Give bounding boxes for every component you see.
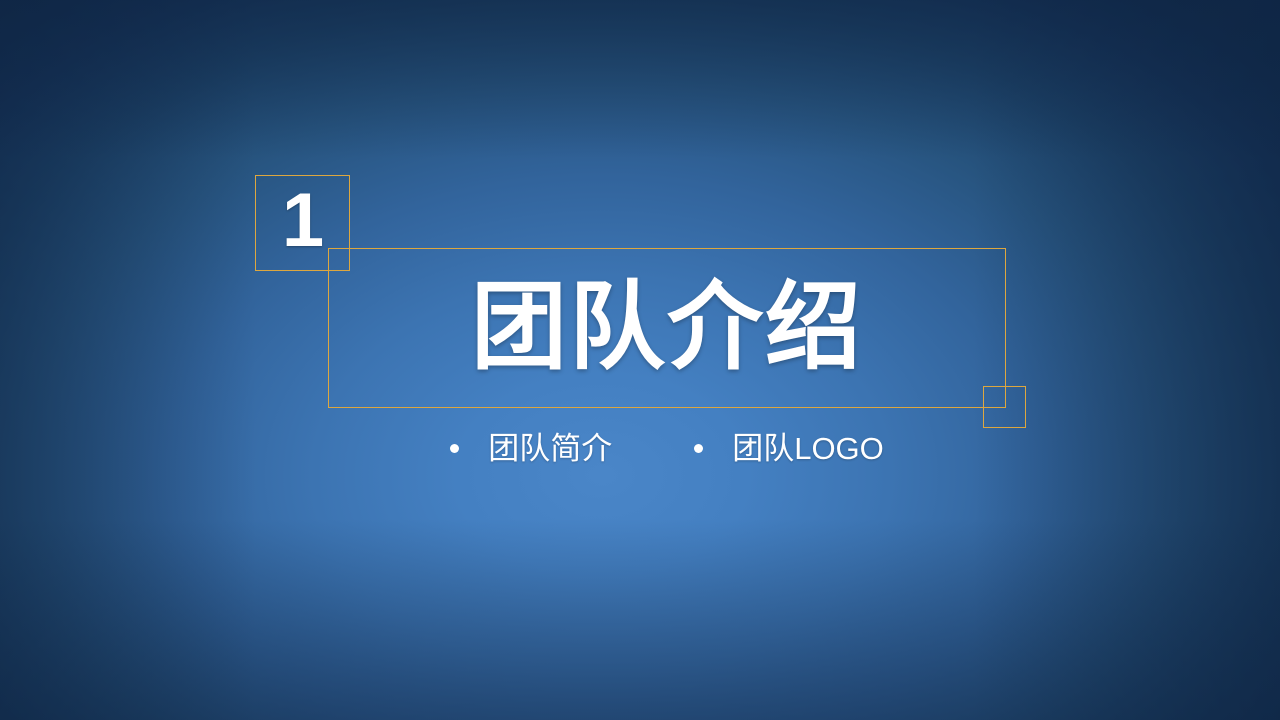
presentation-slide: 1 团队介绍 团队简介 团队LOGO: [0, 0, 1280, 720]
bullet-list: 团队简介 团队LOGO: [328, 430, 1006, 469]
bullet-dot-icon: [694, 444, 703, 453]
list-item-label: 团队简介: [488, 430, 612, 469]
list-item-label: 团队LOGO: [732, 430, 884, 469]
slide-title: 团队介绍: [328, 248, 1006, 408]
list-item: 团队简介: [450, 430, 612, 469]
bullet-dot-icon: [450, 444, 459, 453]
list-item: 团队LOGO: [694, 430, 884, 469]
